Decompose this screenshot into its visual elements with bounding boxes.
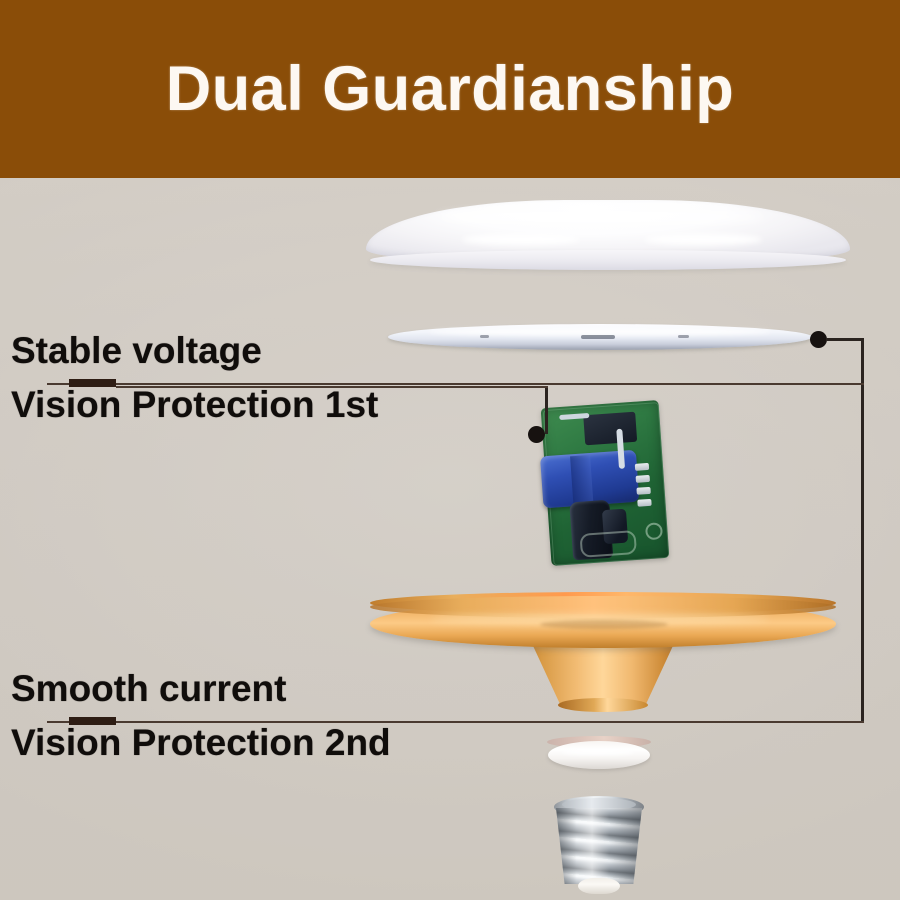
led-plate-marking: [480, 335, 489, 338]
diffuser-highlight-left: [462, 234, 580, 245]
callout-line-segment: [861, 338, 864, 386]
led-plate-marking: [678, 335, 689, 338]
feature-label-second-line2: Vision Protection 2nd: [11, 723, 391, 763]
diffuser-highlight-right: [644, 234, 762, 245]
pcb-resistor: [636, 487, 650, 495]
diffuser-highlight-top: [436, 210, 766, 224]
pcb-component-ic: [583, 412, 637, 446]
diffuser-cover-part: [366, 200, 850, 272]
led-light-plate-part: [388, 324, 812, 354]
feature-label-second-line1: Smooth current: [11, 669, 391, 709]
feature-label-first-line2: Vision Protection 1st: [11, 385, 378, 425]
gold-housing-part: [370, 592, 836, 714]
pcb-resistor: [635, 463, 649, 471]
pcb-solder-pad: [579, 530, 637, 558]
insulator-body: [548, 741, 650, 769]
callout-line-segment: [826, 338, 864, 341]
callout-line-segment: [861, 386, 864, 723]
diagram-background: [0, 178, 900, 900]
driver-pcb-part: [541, 400, 670, 566]
led-plate-marking: [581, 335, 615, 339]
product-infographic: Dual Guardianship: [0, 0, 900, 900]
pcb-resistor: [636, 475, 650, 483]
screw-base-contact-tip: [578, 878, 620, 894]
pcb-resistor: [637, 499, 651, 507]
feature-label-first: Stable voltage Vision Protection 1st: [11, 331, 378, 425]
diffuser-lip: [370, 250, 846, 270]
insulator-ring-part: [547, 736, 651, 772]
screw-base-threads-shading: [556, 808, 642, 884]
callout-dot-driver-pcb: [528, 426, 545, 443]
insulator-highlight: [561, 749, 635, 755]
feature-label-first-line1: Stable voltage: [11, 331, 378, 371]
feature-label-second: Smooth current Vision Protection 2nd: [11, 669, 391, 763]
page-title: Dual Guardianship: [0, 0, 900, 178]
callout-line-segment: [545, 386, 548, 434]
e27-screw-base-part: [554, 796, 644, 896]
housing-cone-base: [558, 698, 648, 712]
housing-emboss: [540, 620, 668, 629]
callout-dot-led-plate: [810, 331, 827, 348]
header-banner: Dual Guardianship: [0, 0, 900, 178]
